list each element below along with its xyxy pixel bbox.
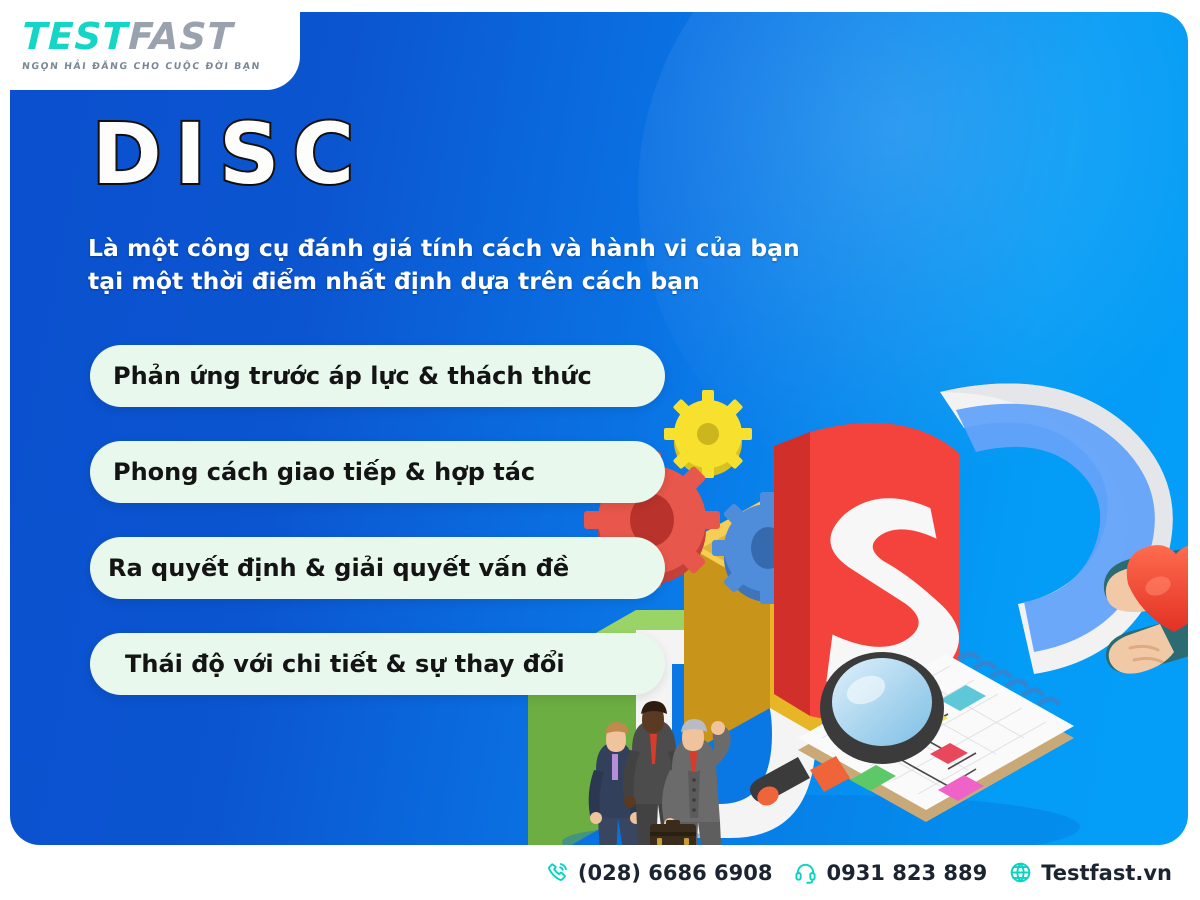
feature-pill-2[interactable]: Phong cách giao tiếp & hợp tác <box>90 441 665 503</box>
feature-pill-list: Phản ứng trước áp lực & thách thức Phong… <box>90 345 665 729</box>
logo-text-test: TEST <box>21 15 129 58</box>
contact-phone[interactable]: (028) 6686 6908 <box>546 861 773 885</box>
logo-tagline: NGỌN HẢI ĐĂNG CHO CUỘC ĐỜI BẠN <box>21 61 261 72</box>
footer-contact-bar: (028) 6686 6908 0931 823 889 Testfast.vn <box>0 845 1200 900</box>
contact-phone-text: (028) 6686 6908 <box>578 861 773 885</box>
feature-pill-3[interactable]: Ra quyết định & giải quyết vấn đề <box>90 537 665 599</box>
feature-pill-3-label: Ra quyết định & giải quyết vấn đề <box>90 554 569 582</box>
feature-pill-4-label: Thái độ với chi tiết & sự thay đổi <box>90 650 565 678</box>
globe-icon <box>1009 861 1032 884</box>
hero-subtitle: Là một công cụ đánh giá tính cách và hàn… <box>88 232 848 298</box>
page-title: DISC <box>92 112 367 196</box>
phone-icon <box>546 861 569 884</box>
contact-hotline-text: 0931 823 889 <box>826 861 987 885</box>
contact-hotline[interactable]: 0931 823 889 <box>794 861 987 885</box>
poster-canvas: TESTFAST NGỌN HẢI ĐĂNG CHO CUỘC ĐỜI BẠN … <box>0 0 1200 900</box>
feature-pill-1[interactable]: Phản ứng trước áp lực & thách thức <box>90 345 665 407</box>
logo-text-fast: FAST <box>128 15 235 58</box>
headset-icon <box>794 861 817 884</box>
feature-pill-2-label: Phong cách giao tiếp & hợp tác <box>90 458 535 486</box>
brand-logo[interactable]: TESTFAST NGỌN HẢI ĐĂNG CHO CUỘC ĐỜI BẠN <box>22 18 261 72</box>
contact-website[interactable]: Testfast.vn <box>1009 861 1172 885</box>
contact-website-text: Testfast.vn <box>1041 861 1172 885</box>
feature-pill-4[interactable]: Thái độ với chi tiết & sự thay đổi <box>90 633 665 695</box>
gear-yellow <box>664 390 752 478</box>
subtitle-line-2: tại một thời điểm nhất định dựa trên các… <box>88 265 848 298</box>
subtitle-line-1: Là một công cụ đánh giá tính cách và hàn… <box>88 232 848 265</box>
logo-wordmark: TESTFAST <box>21 18 261 55</box>
feature-pill-1-label: Phản ứng trước áp lực & thách thức <box>90 362 592 390</box>
